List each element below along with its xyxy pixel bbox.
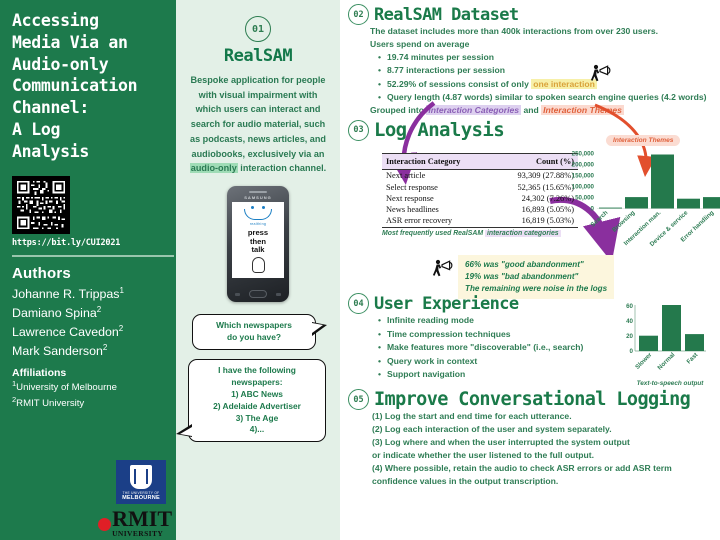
ytick-150000: 150,000 xyxy=(572,173,595,180)
cell-category: News headlines xyxy=(382,204,492,215)
divider xyxy=(12,255,174,257)
callout-line-1: 66% was "good abandonment" xyxy=(465,259,607,271)
author-item: Johanne R. Trippas1 xyxy=(12,285,164,304)
author-item: Mark Sanderson2 xyxy=(12,342,164,361)
ytick-20: 20 xyxy=(626,333,633,340)
smiley-mouth xyxy=(244,209,272,220)
rmit-logo-line2: UNIVERSITY xyxy=(112,529,172,538)
one-interaction-highlight: one interaction xyxy=(531,79,597,89)
megaphone-person-icon-callout xyxy=(432,257,456,281)
author-affil-marker: 1 xyxy=(119,286,123,295)
bubble-tail-fill xyxy=(180,427,192,436)
phone-earpiece-icon xyxy=(249,191,267,193)
grouped-middle: and xyxy=(521,105,541,115)
qr-section: https://bit.ly/CUI2021 xyxy=(12,176,164,248)
logging-line-6: confidence values in the output transcri… xyxy=(372,475,714,488)
melbourne-crest-icon xyxy=(130,465,152,489)
interaction-themes-pill: Interaction Themes xyxy=(606,135,680,146)
title-column: Accessing Media Via an Audio-only Commun… xyxy=(0,0,176,540)
bullet-text: Time compression techniques xyxy=(387,329,511,339)
rmit-logo-line1: RMIT xyxy=(112,510,172,529)
realsam-column: 01 RealSAM Bespoke application for peopl… xyxy=(176,0,340,540)
author-affil-marker: 2 xyxy=(119,324,123,333)
cell-category: Next response xyxy=(382,193,492,204)
author-affil-marker: 2 xyxy=(103,343,107,352)
interaction-themes-chart: 250,000 200,000 150,000 100,000 50,000 0 xyxy=(548,147,720,265)
ytick-200000: 200,000 xyxy=(572,162,595,169)
list-item: 52.29% of sessions consist of only one i… xyxy=(378,78,714,91)
rmit-dot-icon xyxy=(98,518,111,531)
text-to-speech-chart: 60 40 20 0 Slower Normal Fast Text-to-sp… xyxy=(616,297,712,393)
section-badge-05: 05 xyxy=(348,389,369,410)
bullet-text: Support navigation xyxy=(387,369,465,379)
samsung-phone-device: SAMSUNG realthing press then talk xyxy=(227,186,289,302)
bullet-text: Make features more "discoverable" (i.e.,… xyxy=(387,342,583,352)
dataset-subintro: Users spend on average xyxy=(370,38,714,51)
bullet-text: Query length (4.87 words) similar to spo… xyxy=(387,92,707,102)
author-name: Johanne R. Trippas xyxy=(12,287,119,301)
section-02-header: 02 RealSAM Dataset xyxy=(348,4,714,25)
section-badge-01: 01 xyxy=(245,16,271,42)
section-user-experience: 04 User Experience Infinite reading mode… xyxy=(348,293,714,381)
press-then-talk-label[interactable]: press then talk xyxy=(248,229,268,255)
logging-line-5: (4) Where possible, retain the audio to … xyxy=(372,462,714,475)
logging-line-3: (3) Log where and when the user interrup… xyxy=(372,436,714,449)
app-logo-label: realthing xyxy=(250,222,267,226)
section-badge-02: 02 xyxy=(348,4,369,25)
section-title-improve-logging: Improve Conversational Logging xyxy=(374,389,690,410)
affiliation-item: 2RMIT University xyxy=(12,395,164,411)
bar-error-handling xyxy=(703,197,720,208)
section-log-analysis: 03 Log Analysis xyxy=(348,119,714,289)
list-item: Query length (4.87 words) similar to spo… xyxy=(378,91,714,104)
section-badge-04: 04 xyxy=(348,293,369,314)
cell-category: Next article xyxy=(382,170,492,182)
callout-line-2: 19% was "bad abandonment" xyxy=(465,271,607,283)
cell-category: ASR error recovery xyxy=(382,215,492,228)
author-name: Mark Sanderson xyxy=(12,344,103,358)
bar-normal xyxy=(662,305,681,351)
rmit-wordmark: RMIT UNIVERSITY xyxy=(112,510,172,538)
dataset-grouped-line: Grouped into Interaction Categories and … xyxy=(370,104,714,117)
logging-line-4: or indicate whether the user listened to… xyxy=(372,449,714,462)
phone-back-key[interactable] xyxy=(276,293,281,296)
bullet-text: 52.29% of sessions consist of only xyxy=(387,79,531,89)
ytick-60: 60 xyxy=(626,303,633,310)
bar-browsing xyxy=(625,197,648,208)
affiliation-name: RMIT University xyxy=(16,398,84,409)
ytick-40: 40 xyxy=(626,318,633,325)
bullet-text: Query work in context xyxy=(387,356,477,366)
affiliation-name: University of Melbourne xyxy=(16,382,117,393)
phone-home-button[interactable] xyxy=(249,290,267,298)
melbourne-logo-line2: MELBOURNE xyxy=(122,495,160,501)
author-name: Lawrence Cavedon xyxy=(12,325,119,339)
author-item: Lawrence Cavedon2 xyxy=(12,323,164,342)
tts-xlabel: Text-to-speech output xyxy=(637,380,705,387)
bullet-text: Infinite reading mode xyxy=(387,315,474,325)
dataset-intro: The dataset includes more than 400k inte… xyxy=(370,25,714,38)
xtick-normal: Normal xyxy=(656,352,676,372)
ytick-100000: 100,000 xyxy=(572,184,595,191)
realsam-description-part1: Bespoke application for people with visu… xyxy=(190,75,326,159)
dataset-bullet-list: 19.74 minutes per session 8.77 interacti… xyxy=(378,51,714,105)
ytick-250000: 250,000 xyxy=(572,151,595,158)
section-title-realsam: RealSAM xyxy=(186,46,330,66)
author-name: Damiano Spina xyxy=(12,306,97,320)
phone-menu-key[interactable] xyxy=(235,293,240,296)
qr-url-label[interactable]: https://bit.ly/CUI2021 xyxy=(12,238,164,248)
ytick-50000: 50,000 xyxy=(575,195,594,202)
section-badge-03: 03 xyxy=(348,120,369,141)
bar-fast xyxy=(685,334,704,351)
phone-mockup: SAMSUNG realthing press then talk xyxy=(227,186,289,302)
affiliation-item: 1University of Melbourne xyxy=(12,379,164,395)
bar-interaction-man xyxy=(651,155,674,209)
interaction-categories-highlight: Interaction Categories xyxy=(426,105,521,115)
bullet-text: 8.77 interactions per session xyxy=(387,65,505,75)
logging-line-2: (2) Log each interaction of the user and… xyxy=(372,423,714,436)
section-05-header: 05 Improve Conversational Logging xyxy=(348,389,714,410)
speech-bubble-system: I have the following newspapers: 1) ABC … xyxy=(188,359,326,443)
section-title-log-analysis: Log Analysis xyxy=(374,119,504,141)
bar-slower xyxy=(639,336,658,351)
speech-bubble-user-text: Which newspapers do you have? xyxy=(216,320,292,342)
realsam-description: Bespoke application for people with visu… xyxy=(186,73,330,176)
affiliations-heading: Affiliations xyxy=(12,367,164,379)
author-affil-marker: 2 xyxy=(97,305,101,314)
logging-line-1: (1) Log the start and end time for each … xyxy=(372,410,714,423)
bar-device-service xyxy=(677,199,700,209)
section-improve-logging: 05 Improve Conversational Logging (1) Lo… xyxy=(348,389,714,487)
section-realsam-dataset: 02 RealSAM Dataset The dataset includes … xyxy=(348,4,714,117)
interaction-themes-highlight: Interaction Themes xyxy=(541,105,624,115)
speech-bubble-user: Which newspapers do you have? xyxy=(192,314,316,350)
xtick-slower: Slower xyxy=(634,351,654,371)
qr-code-icon[interactable] xyxy=(12,176,70,234)
bar-search xyxy=(599,208,622,209)
section-title-dataset: RealSAM Dataset xyxy=(374,5,519,25)
phone-brand-label: SAMSUNG xyxy=(227,195,289,200)
realsam-description-part2: interaction channel. xyxy=(238,163,326,173)
list-item: 8.77 interactions per session xyxy=(378,64,714,77)
ytick-0: 0 xyxy=(591,206,595,213)
speech-bubble-system-text: I have the following newspapers: 1) ABC … xyxy=(213,365,301,435)
column-header-category: Interaction Category xyxy=(382,154,492,170)
grouped-prefix: Grouped into xyxy=(370,105,426,115)
poster-root: Accessing Media Via an Audio-only Commun… xyxy=(0,0,720,540)
megaphone-person-icon xyxy=(590,62,614,86)
ytick-0-tts: 0 xyxy=(630,348,634,355)
author-item: Damiano Spina2 xyxy=(12,304,164,323)
realsam-smiley-icon xyxy=(243,206,273,221)
section-title-user-experience: User Experience xyxy=(374,294,519,314)
rmit-university-logo: RMIT UNIVERSITY xyxy=(98,510,172,538)
page-title: Accessing Media Via an Audio-only Commun… xyxy=(12,10,164,162)
bubble-tail-fill xyxy=(312,323,323,333)
main-content-column: 02 RealSAM Dataset The dataset includes … xyxy=(340,0,720,540)
xtick-fast: Fast xyxy=(685,352,699,366)
xtick-browsing: Browsing xyxy=(611,209,637,233)
university-of-melbourne-logo: THE UNIVERSITY OF MELBOURNE xyxy=(116,460,166,504)
audio-only-highlight: audio-only xyxy=(190,163,238,173)
cell-category: Select response xyxy=(382,181,492,192)
authors-heading: Authors xyxy=(12,265,164,282)
phone-screen[interactable]: realthing press then talk xyxy=(232,202,284,278)
hand-pointer-icon xyxy=(252,257,265,273)
conversation-example: Which newspapers do you have? I have the… xyxy=(186,314,330,442)
list-item: 19.74 minutes per session xyxy=(378,51,714,64)
bullet-text: 19.74 minutes per session xyxy=(387,52,494,62)
table-caption-part1: Most frequently used RealSAM xyxy=(382,230,485,237)
